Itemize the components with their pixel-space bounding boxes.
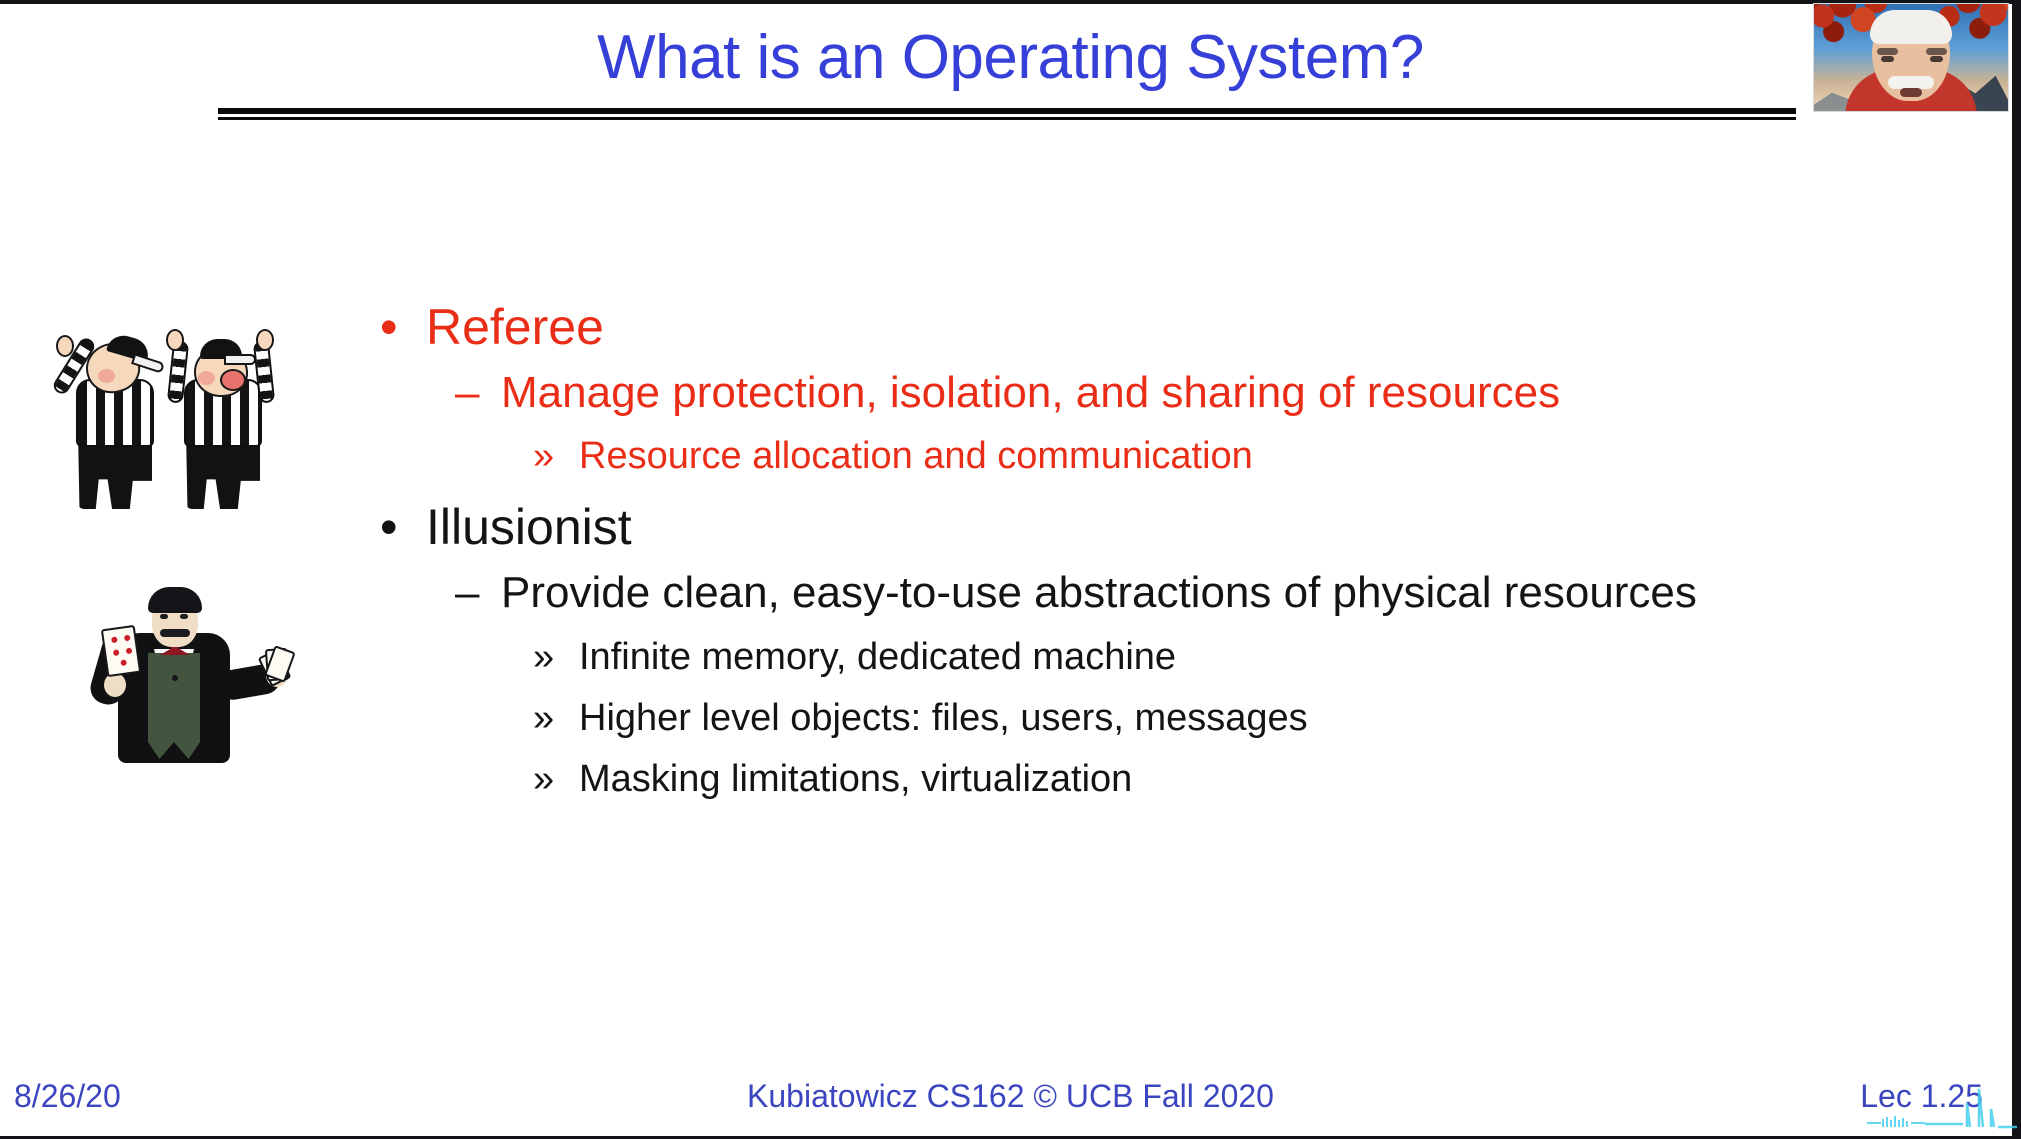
bullet-infinite-memory-text: Infinite memory, dedicated machine: [579, 636, 1176, 678]
bullet-higher-level-objects-text: Higher level objects: files, users, mess…: [579, 697, 1308, 739]
slide-body-content: •Referee –Manage protection, isolation, …: [0, 0, 2021, 1139]
bullet-resource-allocation-text: Resource allocation and communication: [579, 435, 1253, 477]
bullet-marker-dot: •: [380, 498, 426, 556]
bullet-marker-guillemet: »: [533, 758, 579, 801]
bullet-marker-dash: –: [455, 368, 501, 418]
bullet-infinite-memory: »Infinite memory, dedicated machine: [533, 636, 1176, 679]
bullet-higher-level-objects: »Higher level objects: files, users, mes…: [533, 697, 1308, 740]
bullet-marker-guillemet: »: [533, 697, 579, 740]
bullet-masking-limitations: »Masking limitations, virtualization: [533, 758, 1132, 801]
bullet-marker-guillemet: »: [533, 435, 579, 478]
bullet-resource-allocation: »Resource allocation and communication: [533, 435, 1253, 478]
bullet-referee-text: Referee: [426, 299, 604, 355]
bullet-illusionist-text: Illusionist: [426, 499, 632, 555]
bullet-provide-abstractions-text: Provide clean, easy-to-use abstractions …: [501, 568, 1697, 617]
audio-waveform-icon: [1867, 1083, 2017, 1129]
slide-canvas: What is an Operating System?: [0, 0, 2021, 1139]
bullet-marker-guillemet: »: [533, 636, 579, 679]
bullet-illusionist: •Illusionist: [380, 498, 632, 556]
bullet-marker-dot: •: [380, 298, 426, 356]
bullet-manage-protection-text: Manage protection, isolation, and sharin…: [501, 368, 1560, 417]
footer-attribution: Kubiatowicz CS162 © UCB Fall 2020: [0, 1078, 2021, 1115]
bullet-provide-abstractions: –Provide clean, easy-to-use abstractions…: [455, 568, 1697, 618]
bullet-manage-protection: –Manage protection, isolation, and shari…: [455, 368, 1560, 418]
bullet-masking-limitations-text: Masking limitations, virtualization: [579, 758, 1132, 800]
bullet-marker-dash: –: [455, 568, 501, 618]
bullet-referee: •Referee: [380, 298, 604, 356]
